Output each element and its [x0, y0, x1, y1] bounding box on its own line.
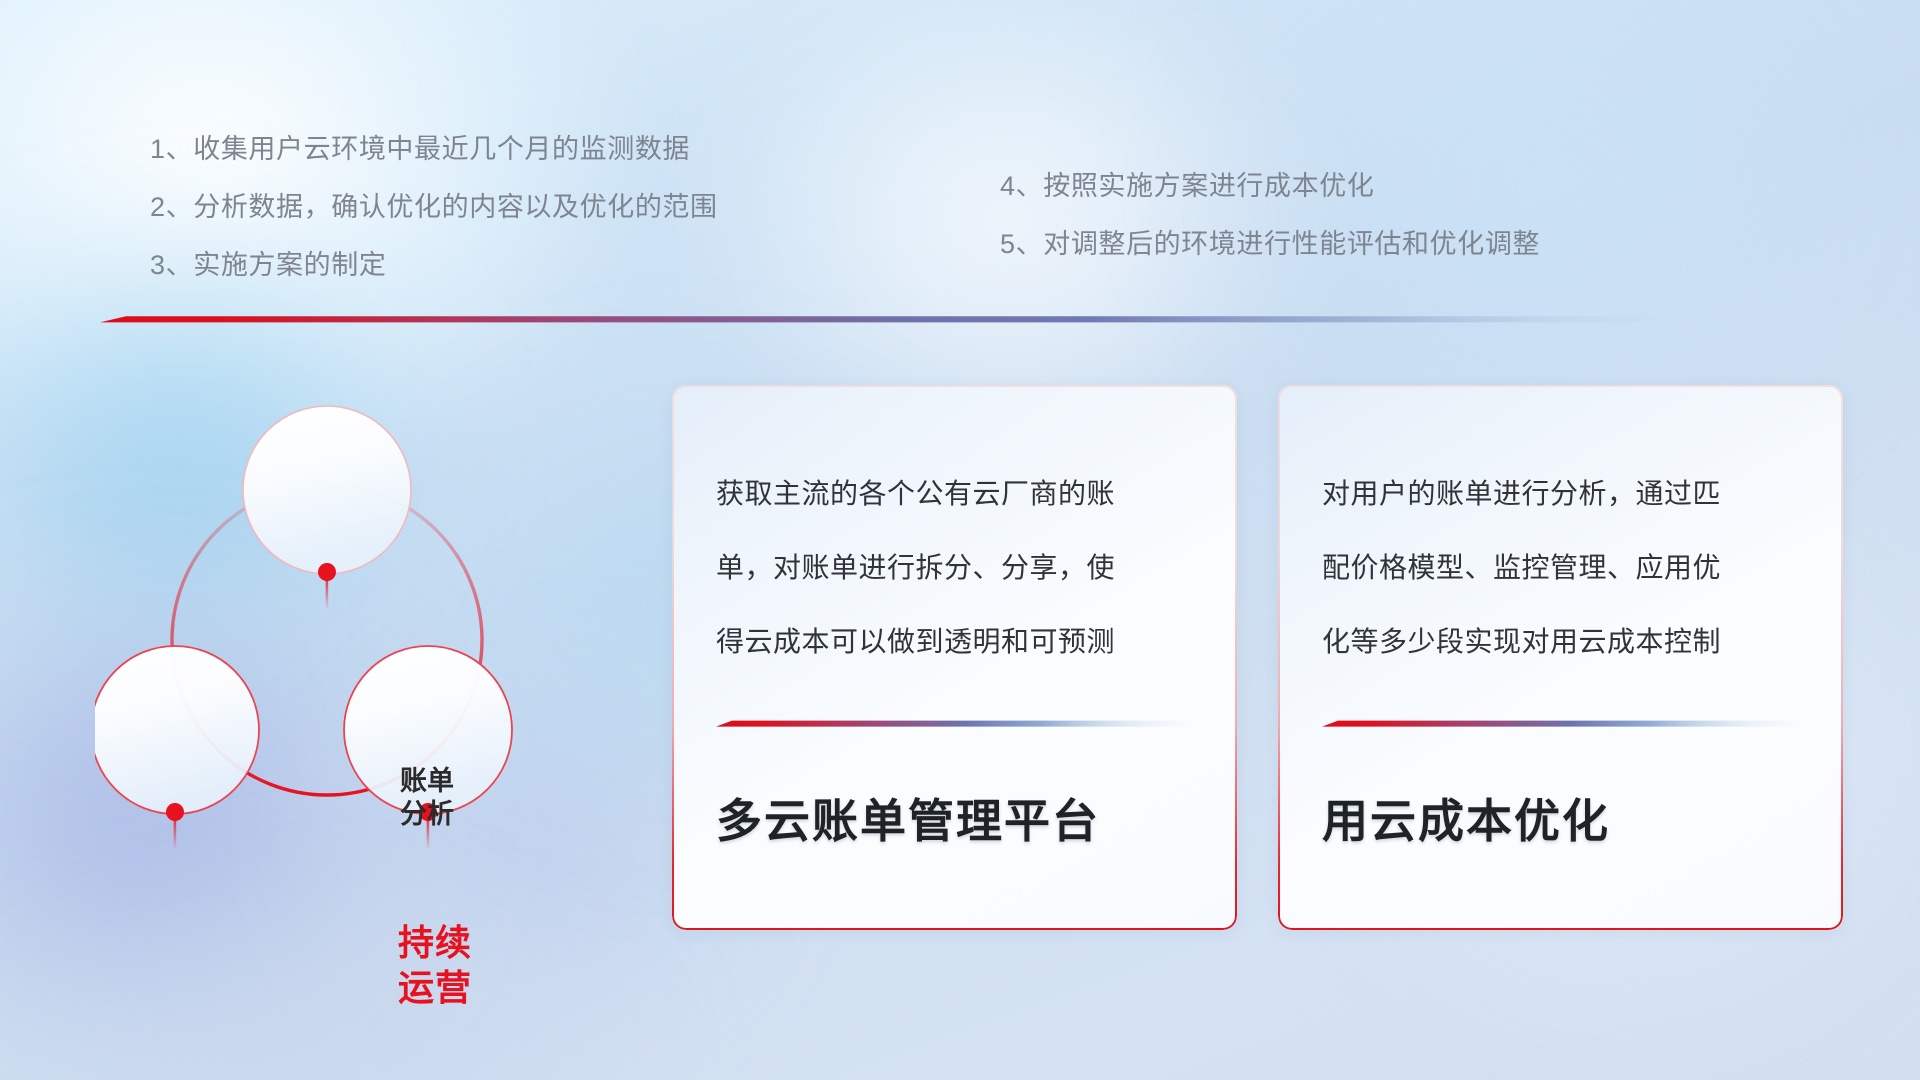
diagram-node-circle-top — [243, 406, 411, 574]
step-item-2: 2、分析数据，确认优化的内容以及优化的范围 — [150, 178, 718, 236]
diagram-dot-bottom-left — [166, 803, 184, 821]
diagram-dot-top — [318, 563, 336, 581]
step-item-1: 1、收集用户云环境中最近几个月的监测数据 — [150, 120, 718, 178]
step-item-4: 4、按照实施方案进行成本优化 — [1000, 157, 1540, 215]
card-description-line: 化等多少段实现对用云成本控制 — [1322, 605, 1803, 679]
card-title: 多云账单管理平台 — [716, 785, 1207, 851]
step-item-5: 5、对调整后的环境进行性能评估和优化调整 — [1000, 215, 1540, 273]
card-description-line: 得云成本可以做到透明和可预测 — [716, 605, 1197, 679]
feature-card-multicloud-billing[interactable]: 获取主流的各个公有云厂商的账 单，对账单进行拆分、分享，使 得云成本可以做到透明… — [672, 385, 1237, 930]
card-accent-rule — [716, 718, 1196, 728]
diagram-label-bill-analysis: 账单 分析 — [357, 765, 497, 831]
card-description: 对用户的账单进行分析，通过匹 配价格模型、监控管理、应用优 化等多少段实现对用云… — [1322, 457, 1803, 679]
continuous-operations-diagram: 账单 分析 操作 运营 优化 策略 持续 运营 — [95, 350, 655, 960]
feature-card-cloud-cost-optimization[interactable]: 对用户的账单进行分析，通过匹 配价格模型、监控管理、应用优 化等多少段实现对用云… — [1278, 385, 1843, 930]
steps-left-column: 1、收集用户云环境中最近几个月的监测数据 2、分析数据，确认优化的内容以及优化的… — [150, 120, 718, 294]
diagram-node-circle-bottom-left — [95, 646, 259, 814]
card-description-line: 单，对账单进行拆分、分享，使 — [716, 531, 1197, 605]
card-description: 获取主流的各个公有云厂商的账 单，对账单进行拆分、分享，使 得云成本可以做到透明… — [716, 457, 1197, 679]
card-accent-rule — [1322, 718, 1802, 728]
diagram-label-center: 持续 运营 — [345, 920, 525, 1010]
card-title: 用云成本优化 — [1322, 785, 1813, 851]
steps-right-column: 4、按照实施方案进行成本优化 5、对调整后的环境进行性能评估和优化调整 — [1000, 157, 1540, 273]
card-description-line: 对用户的账单进行分析，通过匹 — [1322, 457, 1803, 531]
step-item-3: 3、实施方案的制定 — [150, 236, 718, 294]
card-description-line: 配价格模型、监控管理、应用优 — [1322, 531, 1803, 605]
section-divider — [100, 313, 1690, 324]
card-description-line: 获取主流的各个公有云厂商的账 — [716, 457, 1197, 531]
